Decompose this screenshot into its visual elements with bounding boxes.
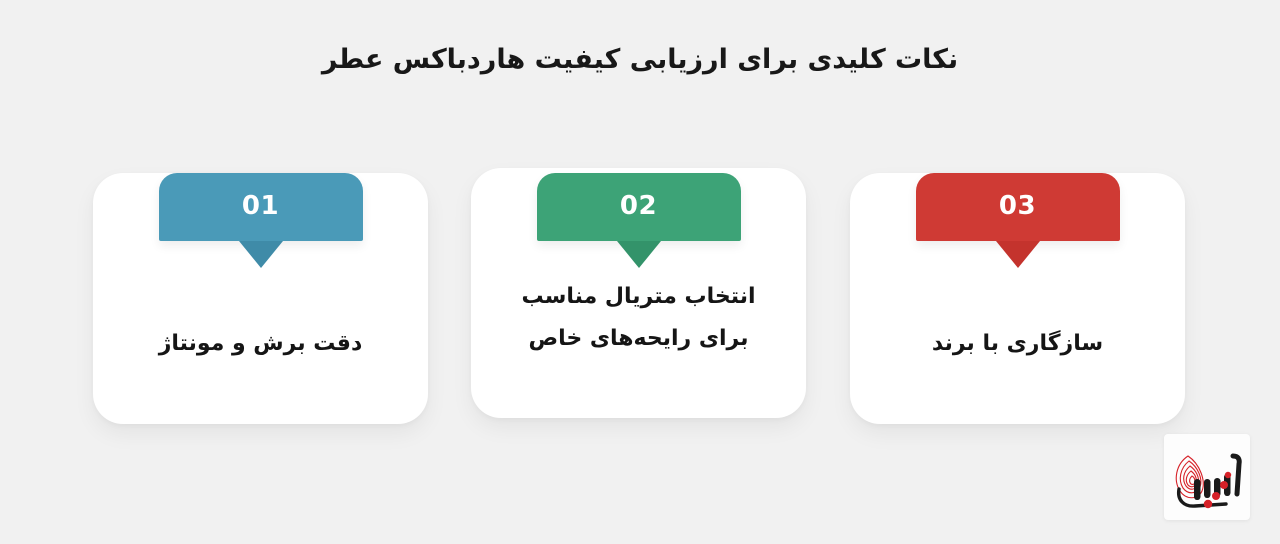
- cards-row: 01 دقت برش و مونتاژ 02 انتخاب متریال منا…: [0, 140, 1280, 440]
- badge-arrow-icon-3: [996, 241, 1040, 268]
- card-badge-2: 02: [537, 173, 741, 241]
- badge-body-3: 03: [916, 173, 1120, 241]
- badge-number-2: 02: [620, 191, 657, 221]
- badge-arrow-icon-2: [617, 241, 661, 268]
- infographic-page: { "page": { "title": "نکات کلیدی برای ار…: [0, 0, 1280, 544]
- info-card-2[interactable]: 02 انتخاب متریال مناسب برای رایحه‌های خا…: [471, 168, 806, 418]
- brand-logo-icon: [1164, 434, 1250, 520]
- card-text-3: سازگاری با برند: [850, 323, 1185, 365]
- card-badge-3: 03: [916, 173, 1120, 241]
- page-title: نکات کلیدی برای ارزیابی کیفیت هاردباکس ع…: [0, 40, 1280, 80]
- info-card-1[interactable]: 01 دقت برش و مونتاژ: [93, 173, 428, 424]
- info-card-3[interactable]: 03 سازگاری با برند: [850, 173, 1185, 424]
- badge-body-1: 01: [159, 173, 363, 241]
- badge-number-3: 03: [999, 191, 1036, 221]
- card-text-1: دقت برش و مونتاژ: [93, 323, 428, 365]
- card-text-2: انتخاب متریال مناسب برای رایحه‌های خاص: [471, 276, 806, 360]
- badge-arrow-icon-1: [239, 241, 283, 268]
- badge-body-2: 02: [537, 173, 741, 241]
- card-badge-1: 01: [159, 173, 363, 241]
- badge-number-1: 01: [242, 191, 279, 221]
- brand-logo: [1164, 434, 1250, 520]
